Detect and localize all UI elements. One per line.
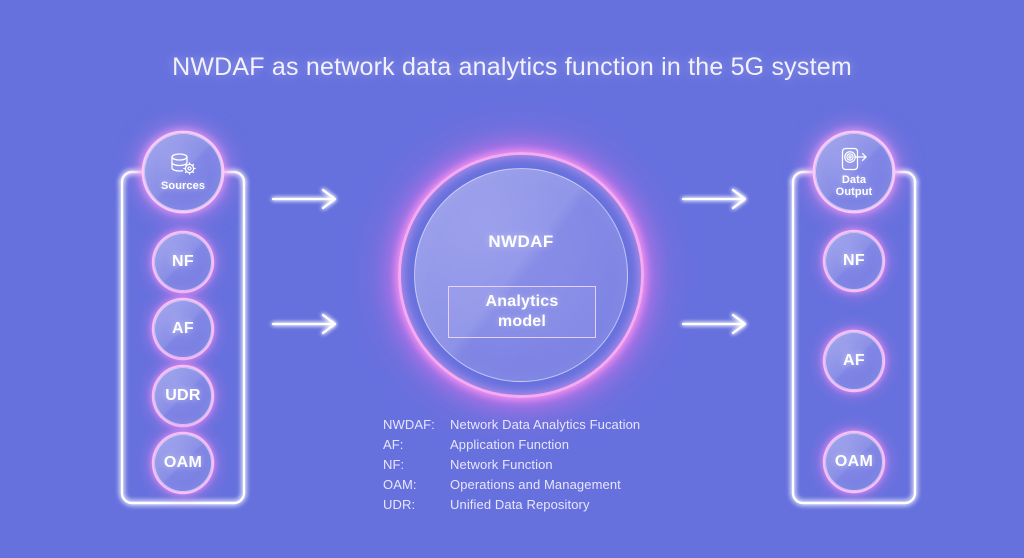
legend-value: Unified Data Repository	[450, 497, 590, 512]
node-left-oam[interactable]: OAM	[154, 434, 212, 492]
node-label: OAM	[835, 454, 873, 471]
node-label: UDR	[165, 388, 201, 405]
node-label: AF	[172, 321, 194, 338]
node-sources[interactable]: Sources	[144, 133, 222, 211]
node-left-af[interactable]: AF	[154, 300, 212, 358]
node-label: NF	[172, 254, 194, 271]
node-label-line2: Output	[836, 186, 873, 198]
node-label: AF	[843, 353, 865, 370]
legend-key: OAM:	[383, 477, 450, 492]
database-gear-icon	[168, 152, 198, 178]
legend-value: Network Function	[450, 457, 553, 472]
node-left-nf[interactable]: NF	[154, 233, 212, 291]
node-data-output[interactable]: Data Output	[815, 133, 893, 211]
legend-row: OAM: Operations and Management	[383, 474, 640, 494]
node-label: OAM	[164, 455, 202, 472]
nwdaf-core[interactable]: NWDAF Analytics model	[398, 152, 644, 398]
arrow-in-bottom	[271, 313, 341, 335]
nwdaf-title: NWDAF	[415, 232, 627, 252]
legend-key: AF:	[383, 437, 450, 452]
legend-row: AF: Application Function	[383, 434, 640, 454]
legend-key: UDR:	[383, 497, 450, 512]
legend-key: NF:	[383, 457, 450, 472]
legend-value: Operations and Management	[450, 477, 621, 492]
node-label: NF	[843, 253, 865, 270]
analytics-model-line2: model	[498, 313, 546, 330]
diagram-canvas: NWDAF as network data analytics function…	[0, 0, 1024, 558]
legend-key: NWDAF:	[383, 417, 450, 432]
node-right-af[interactable]: AF	[825, 332, 883, 390]
data-output-icon	[839, 146, 869, 172]
node-right-nf[interactable]: NF	[825, 232, 883, 290]
analytics-model-box[interactable]: Analytics model	[448, 286, 596, 338]
legend-row: NF: Network Function	[383, 454, 640, 474]
node-label: Data Output	[836, 175, 873, 198]
analytics-model-line1: Analytics	[486, 293, 559, 310]
node-label: Sources	[161, 181, 205, 193]
nwdaf-inner-circle: NWDAF Analytics model	[414, 168, 628, 382]
legend: NWDAF: Network Data Analytics Fucation A…	[383, 414, 640, 514]
arrow-out-bottom	[681, 313, 751, 335]
node-label-line1: Data	[842, 174, 866, 186]
arrow-out-top	[681, 188, 751, 210]
legend-row: UDR: Unified Data Repository	[383, 494, 640, 514]
legend-value: Network Data Analytics Fucation	[450, 417, 640, 432]
arrow-in-top	[271, 188, 341, 210]
node-left-udr[interactable]: UDR	[154, 367, 212, 425]
node-right-oam[interactable]: OAM	[825, 433, 883, 491]
page-title: NWDAF as network data analytics function…	[0, 53, 1024, 82]
legend-row: NWDAF: Network Data Analytics Fucation	[383, 414, 640, 434]
legend-value: Application Function	[450, 437, 569, 452]
